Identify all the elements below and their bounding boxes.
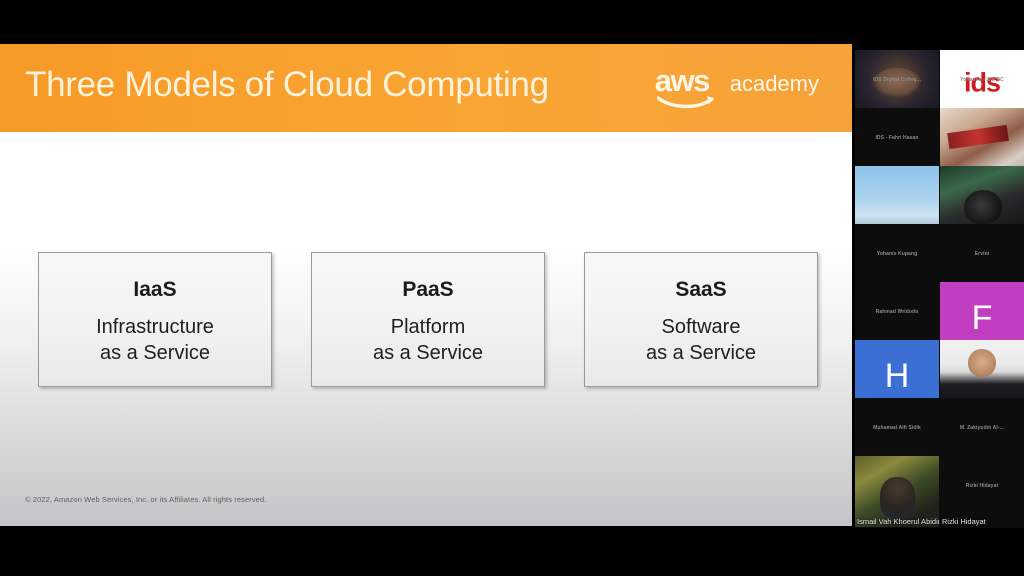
model-box-paas: PaaS Platform as a Service bbox=[311, 252, 545, 387]
participant-ghost-name: Muhamad Alfi Sidik bbox=[873, 425, 921, 431]
participant-rail[interactable]: IDS Digital Colleg...IDS Digital College… bbox=[855, 50, 1024, 528]
participant-ghost-name: Rahmad Wridodo bbox=[876, 309, 919, 315]
model-line-2: as a Service bbox=[100, 340, 210, 366]
participant-ghost-name: M. Zakiyudin Al-... bbox=[960, 425, 1004, 431]
model-line-2: as a Service bbox=[646, 340, 756, 366]
screen-root: Three Models of Cloud Computing aws acad… bbox=[0, 0, 1024, 576]
copyright-footer: © 2022, Amazon Web Services, Inc. or its… bbox=[25, 495, 266, 504]
participant-ghost-name: Ervini bbox=[975, 251, 990, 257]
participant-tile[interactable]: Ismail Vah Khoerul Abidin bbox=[855, 456, 939, 527]
participant-ghost-name: IDS - Fahri Hasan bbox=[875, 135, 918, 141]
model-line-2: as a Service bbox=[373, 340, 483, 366]
participant-name: Ismail Vah Khoerul Abidin bbox=[857, 517, 939, 526]
model-box-iaas: IaaS Infrastructure as a Service bbox=[38, 252, 272, 387]
model-line-1: Platform bbox=[391, 314, 465, 340]
participant-tile[interactable]: Rizki HidayatRizki Hidayat bbox=[940, 456, 1024, 527]
model-line-1: Infrastructure bbox=[96, 314, 214, 340]
model-abbr: IaaS bbox=[133, 278, 176, 302]
participant-name: Rizki Hidayat bbox=[942, 517, 986, 526]
shared-slide: Three Models of Cloud Computing aws acad… bbox=[0, 44, 852, 526]
model-line-1: Software bbox=[662, 314, 741, 340]
participant-ghost-name: IDS Digital Colleg... bbox=[873, 77, 921, 83]
participant-ghost-name: Yohanis Kupang bbox=[877, 251, 917, 257]
participant-ghost-name: Yohanna - IDS DC bbox=[960, 77, 1004, 83]
avatar-initial: F bbox=[972, 301, 993, 335]
participant-ghost-name: Rizki Hidayat bbox=[966, 483, 998, 489]
model-abbr: SaaS bbox=[675, 278, 726, 302]
model-boxes: IaaS Infrastructure as a Service PaaS Pl… bbox=[0, 44, 852, 526]
avatar-initial: H bbox=[885, 359, 910, 393]
model-box-saas: SaaS Software as a Service bbox=[584, 252, 818, 387]
model-abbr: PaaS bbox=[402, 278, 453, 302]
